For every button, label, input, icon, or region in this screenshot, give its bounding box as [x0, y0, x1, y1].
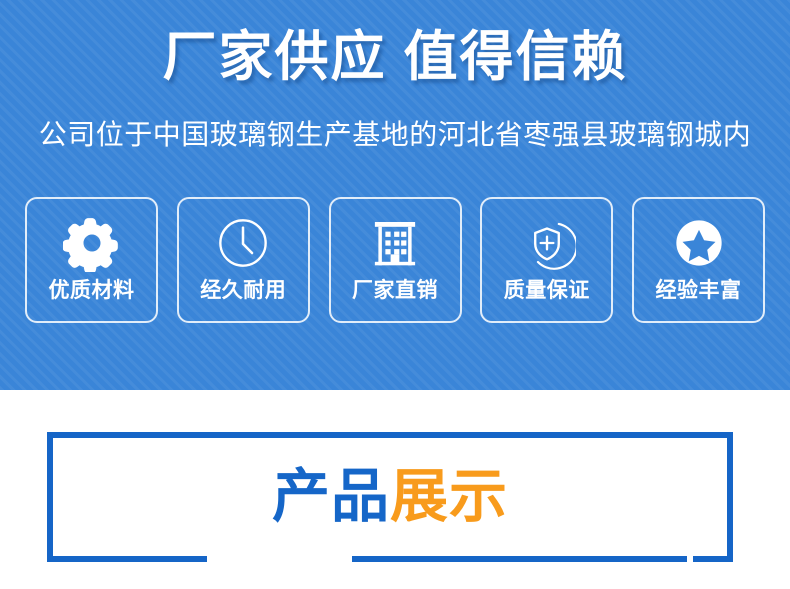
feature-badge-durable[interactable]: 经久耐用: [177, 197, 310, 323]
feature-badge-quality-material[interactable]: 优质材料: [25, 197, 158, 323]
page-title: 厂家供应 值得信赖: [0, 26, 790, 88]
feature-badge-label: 厂家直销: [352, 278, 438, 304]
hero-banner: 厂家供应 值得信赖 公司位于中国玻璃钢生产基地的河北省枣强县玻璃钢城内 优质材料: [0, 0, 790, 390]
gear-icon: [61, 212, 123, 274]
section-heading: 产品展示: [47, 432, 733, 562]
feature-badge-label: 优质材料: [49, 278, 135, 304]
feature-badge-label: 经久耐用: [200, 278, 286, 304]
star-circle-icon: [668, 212, 730, 274]
shield-plus-icon: [516, 212, 578, 274]
feature-badge-quality-guarantee[interactable]: 质量保证: [480, 197, 613, 323]
feature-badge-experienced[interactable]: 经验丰富: [632, 197, 765, 323]
feature-badge-factory-direct[interactable]: 厂家直销: [329, 197, 462, 323]
section-heading-primary: 产品: [272, 464, 390, 530]
feature-badge-label: 质量保证: [504, 278, 590, 304]
building-icon: [364, 212, 426, 274]
clock-icon: [212, 212, 274, 274]
feature-badge-label: 经验丰富: [656, 278, 742, 304]
product-showcase-section: 产品展示: [47, 432, 733, 562]
hero-subtitle: 公司位于中国玻璃钢生产基地的河北省枣强县玻璃钢城内: [0, 116, 790, 154]
feature-badge-list: 优质材料 经久耐用: [25, 197, 765, 323]
section-heading-secondary: 展示: [390, 464, 508, 530]
promo-banner-page: 厂家供应 值得信赖 公司位于中国玻璃钢生产基地的河北省枣强县玻璃钢城内 优质材料: [0, 0, 790, 589]
